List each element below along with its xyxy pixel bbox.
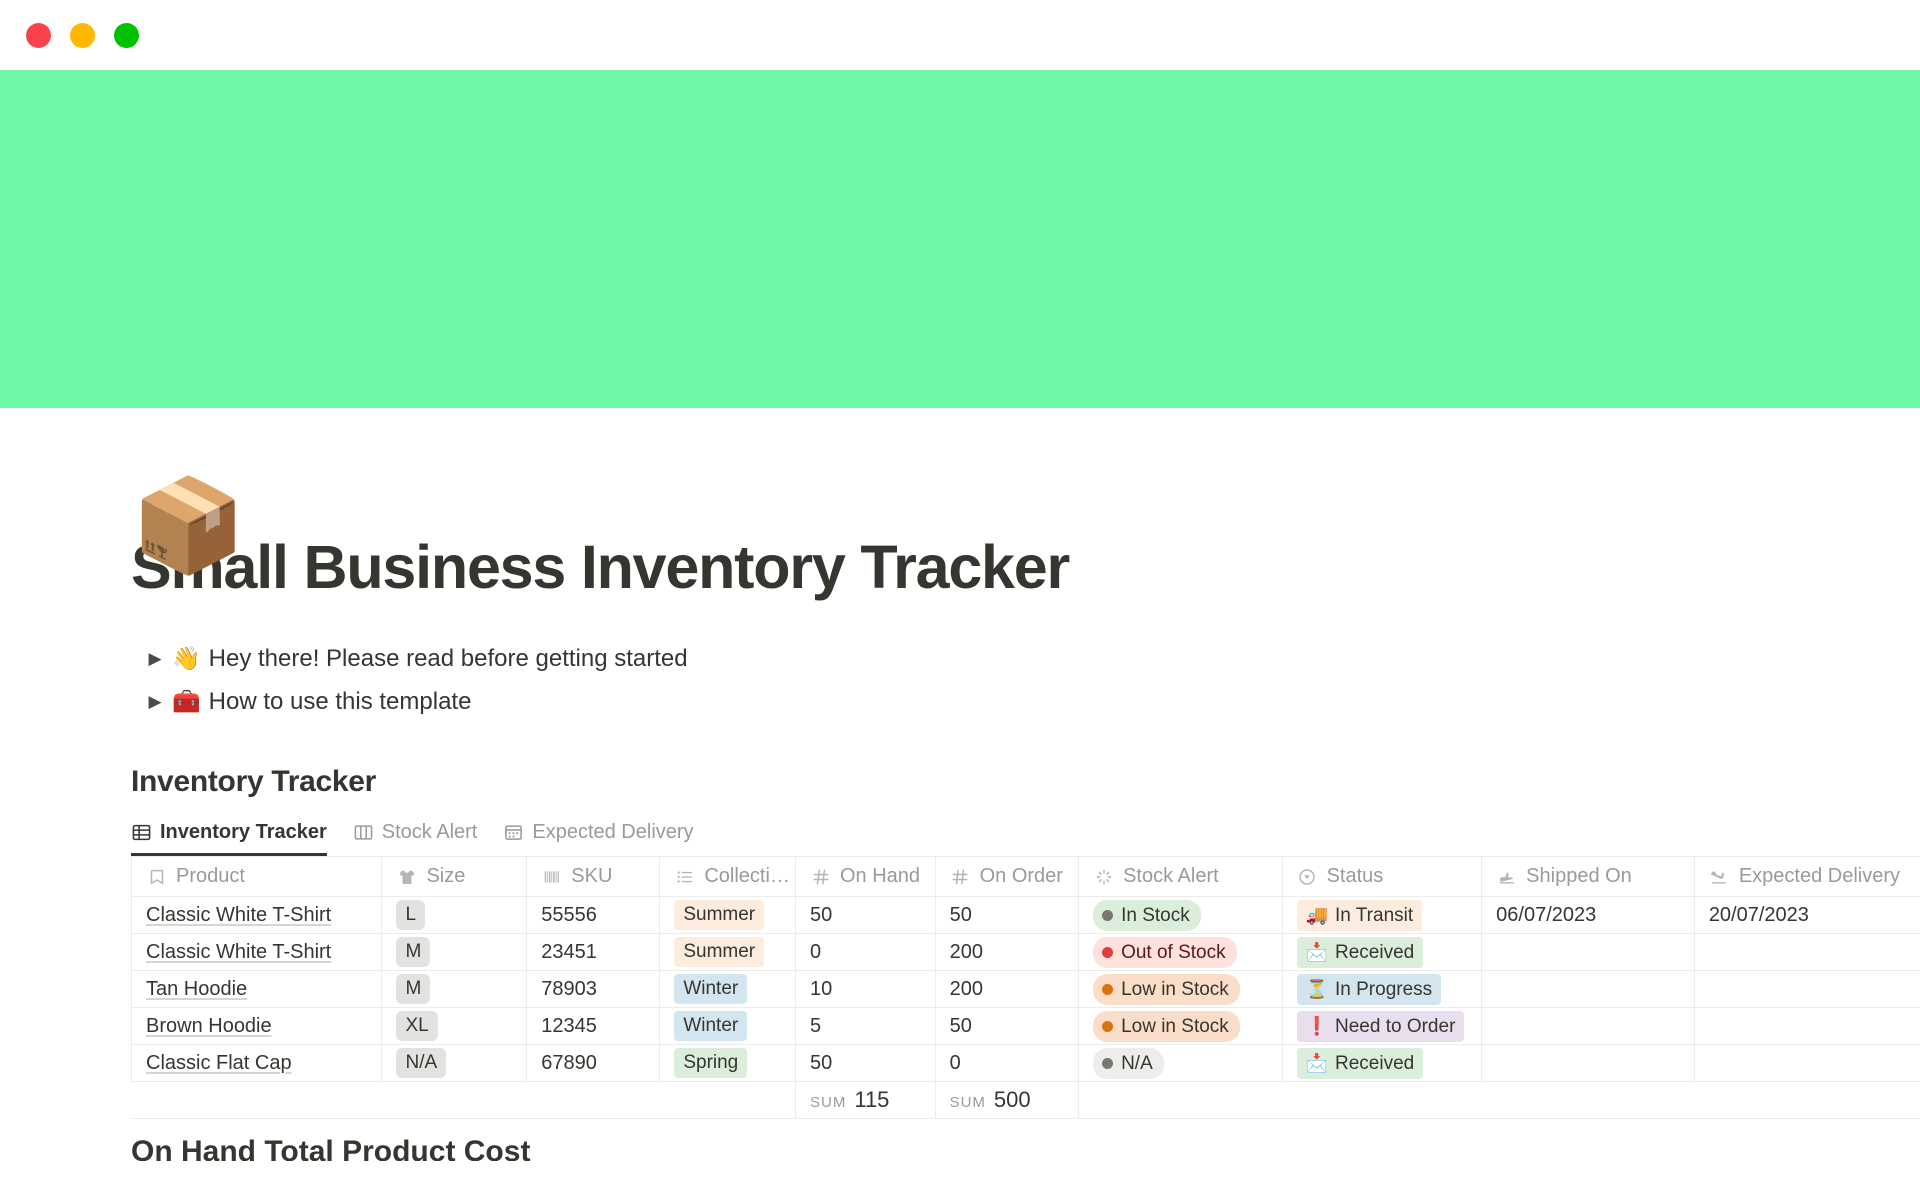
collection-chip: Winter xyxy=(674,974,747,1004)
column-header-on-hand[interactable]: On Hand xyxy=(796,857,936,897)
cell-sku[interactable]: 78903 xyxy=(527,971,660,1008)
page-cover-image[interactable] xyxy=(0,70,1920,408)
column-header-collection[interactable]: Collecti… xyxy=(660,857,796,897)
size-chip: L xyxy=(396,900,425,930)
toggle-block-welcome[interactable]: ▶ 👋 Hey there! Please read before gettin… xyxy=(131,637,1920,680)
cell-size[interactable]: M xyxy=(382,971,527,1008)
toggle-label: Hey there! Please read before getting st… xyxy=(209,645,688,673)
bookmark-icon xyxy=(146,866,167,887)
status-emoji-icon: 🚚 xyxy=(1306,902,1328,929)
tab-stock-alert[interactable]: Stock Alert xyxy=(353,821,478,856)
window-titlebar xyxy=(0,0,1920,70)
cell-sku[interactable]: 12345 xyxy=(527,1008,660,1045)
package-icon[interactable]: 📦 xyxy=(131,476,231,576)
summary-value: 115 xyxy=(854,1087,889,1112)
tab-label: Stock Alert xyxy=(382,821,478,844)
status-emoji-icon: 📩 xyxy=(1306,1050,1328,1077)
table-header-row: Product Size SKU Collecti… On Hand On Or… xyxy=(132,857,1920,897)
cell-expected-delivery[interactable] xyxy=(1694,971,1920,1008)
cell-size[interactable]: N/A xyxy=(382,1045,527,1082)
traffic-light-group xyxy=(26,23,139,48)
column-label: SKU xyxy=(571,865,612,888)
page-content: 📦 Small Business Inventory Tracker ▶ 👋 H… xyxy=(0,534,1920,1161)
cell-collection[interactable]: Spring xyxy=(660,1045,796,1082)
cell-status[interactable]: ⏳In Progress xyxy=(1282,971,1482,1008)
column-header-size[interactable]: Size xyxy=(382,857,527,897)
size-chip: XL xyxy=(396,1011,437,1041)
column-header-product[interactable]: Product xyxy=(132,857,382,897)
status-dot-icon xyxy=(1102,984,1113,995)
table-row[interactable]: Classic White T-ShirtL55556Summer5050In … xyxy=(132,897,1920,934)
product-link[interactable]: Tan Hoodie xyxy=(146,978,247,1000)
column-label: Status xyxy=(1327,865,1384,888)
summary-on-order[interactable]: SUM500 xyxy=(935,1082,1079,1119)
hash-icon xyxy=(950,866,971,887)
column-label: Expected Delivery xyxy=(1739,865,1900,888)
minimize-window-button[interactable] xyxy=(70,23,95,48)
tab-label: Expected Delivery xyxy=(532,821,693,844)
hash-icon xyxy=(810,866,831,887)
status-badge: ❗Need to Order xyxy=(1297,1011,1465,1042)
collection-chip: Summer xyxy=(674,900,764,930)
table-icon xyxy=(131,822,152,843)
column-header-sku[interactable]: SKU xyxy=(527,857,660,897)
status-dot-icon xyxy=(1102,1058,1113,1069)
wave-emoji-icon: 👋 xyxy=(172,645,201,672)
table-row[interactable]: Classic White T-ShirtM23451Summer0200Out… xyxy=(132,934,1920,971)
tshirt-icon xyxy=(396,866,417,887)
cell-shipped-on[interactable] xyxy=(1482,971,1695,1008)
cell-product[interactable]: Brown Hoodie xyxy=(132,1008,382,1045)
database-view-tabs: Inventory Tracker Stock Alert Expected D… xyxy=(131,816,1920,856)
toolbox-emoji-icon: 🧰 xyxy=(172,688,201,715)
cell-stock-alert[interactable]: N/A xyxy=(1079,1045,1283,1082)
toggle-block-list: ▶ 👋 Hey there! Please read before gettin… xyxy=(131,637,1920,723)
cell-shipped-on[interactable]: 06/07/2023 xyxy=(1482,897,1695,934)
inventory-table: Product Size SKU Collecti… On Hand On Or… xyxy=(131,856,1920,1119)
status-dot-icon xyxy=(1102,910,1113,921)
status-badge: 📩Received xyxy=(1297,1048,1424,1079)
column-label: Shipped On xyxy=(1526,865,1632,888)
product-link[interactable]: Brown Hoodie xyxy=(146,1015,272,1037)
table-row[interactable]: Brown HoodieXL12345Winter550Low in Stock… xyxy=(132,1008,1920,1045)
cell-collection[interactable]: Summer xyxy=(660,897,796,934)
table-body: Classic White T-ShirtL55556Summer5050In … xyxy=(132,897,1920,1082)
table-row[interactable]: Classic Flat CapN/A67890Spring500N/A📩Rec… xyxy=(132,1045,1920,1082)
cell-status[interactable]: ❗Need to Order xyxy=(1282,1008,1482,1045)
summary-on-hand[interactable]: SUM115 xyxy=(796,1082,936,1119)
cell-expected-delivery[interactable] xyxy=(1694,1008,1920,1045)
status-badge: 📩Received xyxy=(1297,937,1424,968)
status-dot-icon xyxy=(1102,1021,1113,1032)
cell-stock-alert[interactable]: In Stock xyxy=(1079,897,1283,934)
status-emoji-icon: 📩 xyxy=(1306,939,1328,966)
cell-status[interactable]: 📩Received xyxy=(1282,1045,1482,1082)
column-header-on-order[interactable]: On Order xyxy=(935,857,1079,897)
status-emoji-icon: ❗ xyxy=(1306,1013,1328,1040)
product-link[interactable]: Classic White T-Shirt xyxy=(146,904,331,926)
chevron-right-icon[interactable]: ▶ xyxy=(138,692,172,712)
close-window-button[interactable] xyxy=(26,23,51,48)
summary-spacer xyxy=(1079,1082,1920,1119)
next-section-heading: On Hand Total Product Cost xyxy=(131,1135,1920,1161)
summary-value: 500 xyxy=(994,1087,1031,1112)
column-header-shipped-on[interactable]: Shipped On xyxy=(1482,857,1695,897)
cell-size[interactable]: M xyxy=(382,934,527,971)
cell-collection[interactable]: Winter xyxy=(660,971,796,1008)
collection-chip: Winter xyxy=(674,1011,747,1041)
toggle-label: How to use this template xyxy=(209,688,472,716)
cell-on-hand[interactable]: 0 xyxy=(796,934,936,971)
column-label: Stock Alert xyxy=(1123,865,1219,888)
status-badge: ⏳In Progress xyxy=(1297,974,1442,1005)
cell-product[interactable]: Classic Flat Cap xyxy=(132,1045,382,1082)
plane-arrive-icon xyxy=(1709,866,1730,887)
column-label: On Order xyxy=(980,865,1063,888)
stock-alert-badge: Low in Stock xyxy=(1093,1011,1240,1042)
tab-inventory-tracker[interactable]: Inventory Tracker xyxy=(131,821,327,856)
page-title: Small Business Inventory Tracker xyxy=(131,534,1920,601)
cell-stock-alert[interactable]: Low in Stock xyxy=(1079,971,1283,1008)
size-chip: M xyxy=(396,974,430,1004)
cell-sku[interactable]: 55556 xyxy=(527,897,660,934)
stock-alert-badge: Out of Stock xyxy=(1093,937,1237,968)
board-icon xyxy=(353,822,374,843)
cell-size[interactable]: XL xyxy=(382,1008,527,1045)
column-header-stock-alert[interactable]: Stock Alert xyxy=(1079,857,1283,897)
database-table-wrapper[interactable]: Product Size SKU Collecti… On Hand On Or… xyxy=(131,856,1920,1119)
database-heading: Inventory Tracker xyxy=(131,765,1920,799)
cell-collection[interactable]: Summer xyxy=(660,934,796,971)
cell-shipped-on[interactable] xyxy=(1482,934,1695,971)
cell-on-order[interactable]: 50 xyxy=(935,1008,1079,1045)
product-link[interactable]: Classic White T-Shirt xyxy=(146,941,331,963)
cell-status[interactable]: 🚚In Transit xyxy=(1282,897,1482,934)
table-row[interactable]: Tan HoodieM78903Winter10200Low in Stock⏳… xyxy=(132,971,1920,1008)
cell-sku[interactable]: 67890 xyxy=(527,1045,660,1082)
cell-on-order[interactable]: 0 xyxy=(935,1045,1079,1082)
size-chip: N/A xyxy=(396,1048,446,1078)
summary-spacer xyxy=(132,1082,796,1119)
cell-stock-alert[interactable]: Low in Stock xyxy=(1079,1008,1283,1045)
list-icon xyxy=(674,866,695,887)
status-emoji-icon: ⏳ xyxy=(1306,976,1328,1003)
cell-size[interactable]: L xyxy=(382,897,527,934)
summary-label: SUM xyxy=(810,1094,846,1111)
status-badge: 🚚In Transit xyxy=(1297,900,1423,931)
cell-on-hand[interactable]: 50 xyxy=(796,1045,936,1082)
plane-depart-icon xyxy=(1496,866,1517,887)
column-label: Collecti… xyxy=(704,865,790,888)
table-summary-row: SUM115 SUM500 xyxy=(132,1082,1920,1119)
product-link[interactable]: Classic Flat Cap xyxy=(146,1052,292,1074)
cell-shipped-on[interactable] xyxy=(1482,1008,1695,1045)
cell-on-order[interactable]: 200 xyxy=(935,934,1079,971)
tab-expected-delivery[interactable]: Expected Delivery xyxy=(503,821,693,856)
collection-chip: Summer xyxy=(674,937,764,967)
calendar-icon xyxy=(503,822,524,843)
barcode-icon xyxy=(541,866,562,887)
cell-expected-delivery[interactable]: 20/07/2023 xyxy=(1694,897,1920,934)
column-label: On Hand xyxy=(840,865,920,888)
cell-expected-delivery[interactable] xyxy=(1694,934,1920,971)
cell-sku[interactable]: 23451 xyxy=(527,934,660,971)
status-dot-icon xyxy=(1102,947,1113,958)
cell-collection[interactable]: Winter xyxy=(660,1008,796,1045)
toggle-block-how-to-use[interactable]: ▶ 🧰 How to use this template xyxy=(131,680,1920,723)
cell-on-order[interactable]: 200 xyxy=(935,971,1079,1008)
column-header-status[interactable]: Status xyxy=(1282,857,1482,897)
cell-shipped-on[interactable] xyxy=(1482,1045,1695,1082)
cell-on-hand[interactable]: 50 xyxy=(796,897,936,934)
column-header-expected-delivery[interactable]: Expected Delivery xyxy=(1694,857,1920,897)
cell-on-hand[interactable]: 10 xyxy=(796,971,936,1008)
cell-product[interactable]: Classic White T-Shirt xyxy=(132,934,382,971)
chevron-right-icon[interactable]: ▶ xyxy=(138,649,172,669)
stock-alert-badge: In Stock xyxy=(1093,900,1201,931)
cell-expected-delivery[interactable] xyxy=(1694,1045,1920,1082)
status-icon xyxy=(1297,866,1318,887)
column-label: Size xyxy=(426,865,465,888)
cell-product[interactable]: Tan Hoodie xyxy=(132,971,382,1008)
maximize-window-button[interactable] xyxy=(114,23,139,48)
stock-alert-badge: N/A xyxy=(1093,1048,1164,1079)
formula-icon xyxy=(1093,866,1114,887)
column-label: Product xyxy=(176,865,245,888)
cell-stock-alert[interactable]: Out of Stock xyxy=(1079,934,1283,971)
cell-on-hand[interactable]: 5 xyxy=(796,1008,936,1045)
cell-product[interactable]: Classic White T-Shirt xyxy=(132,897,382,934)
cell-status[interactable]: 📩Received xyxy=(1282,934,1482,971)
collection-chip: Spring xyxy=(674,1048,747,1078)
tab-label: Inventory Tracker xyxy=(160,821,327,844)
size-chip: M xyxy=(396,937,430,967)
cell-on-order[interactable]: 50 xyxy=(935,897,1079,934)
summary-label: SUM xyxy=(950,1094,986,1111)
stock-alert-badge: Low in Stock xyxy=(1093,974,1240,1005)
